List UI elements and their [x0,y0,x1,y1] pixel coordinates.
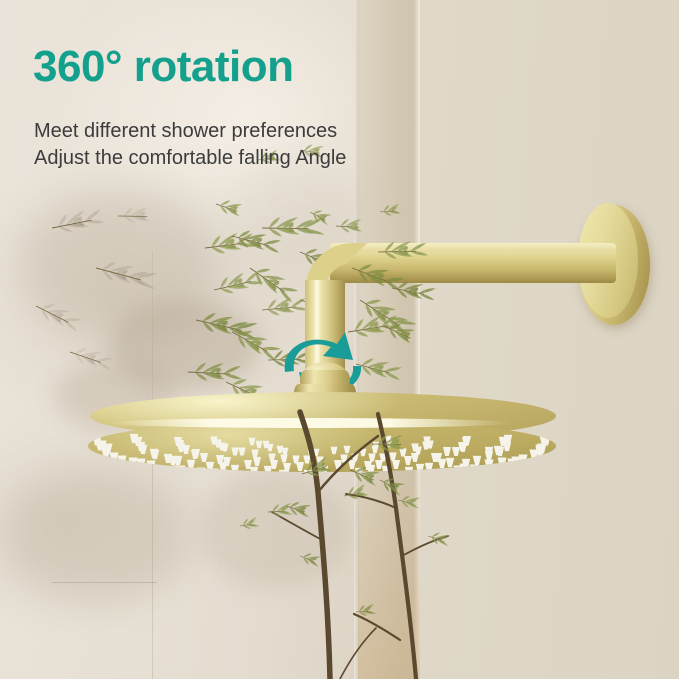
bamboo-sprig [347,462,381,487]
bamboo-sprig [298,550,322,568]
tree-branch [318,436,378,492]
bamboo-sprig [342,482,370,504]
page-title: 360° rotation [33,45,294,89]
subtitle-line-2: Adjust the comfortable falling Angle [34,145,346,172]
tree-lower-foreground [0,0,679,679]
subtitle-block: Meet different shower preferences Adjust… [34,118,346,171]
bamboo-sprig [397,494,420,510]
tree-branch [300,412,330,679]
subtitle-line-1: Meet different shower preferences [34,118,346,145]
product-image-scene: 360° rotation Meet different shower pref… [0,0,679,679]
tree-branch [354,614,400,640]
tree-branch [340,628,376,679]
bamboo-sprig [238,515,260,532]
bamboo-sprig [285,499,312,519]
bamboo-sprig [371,432,405,454]
